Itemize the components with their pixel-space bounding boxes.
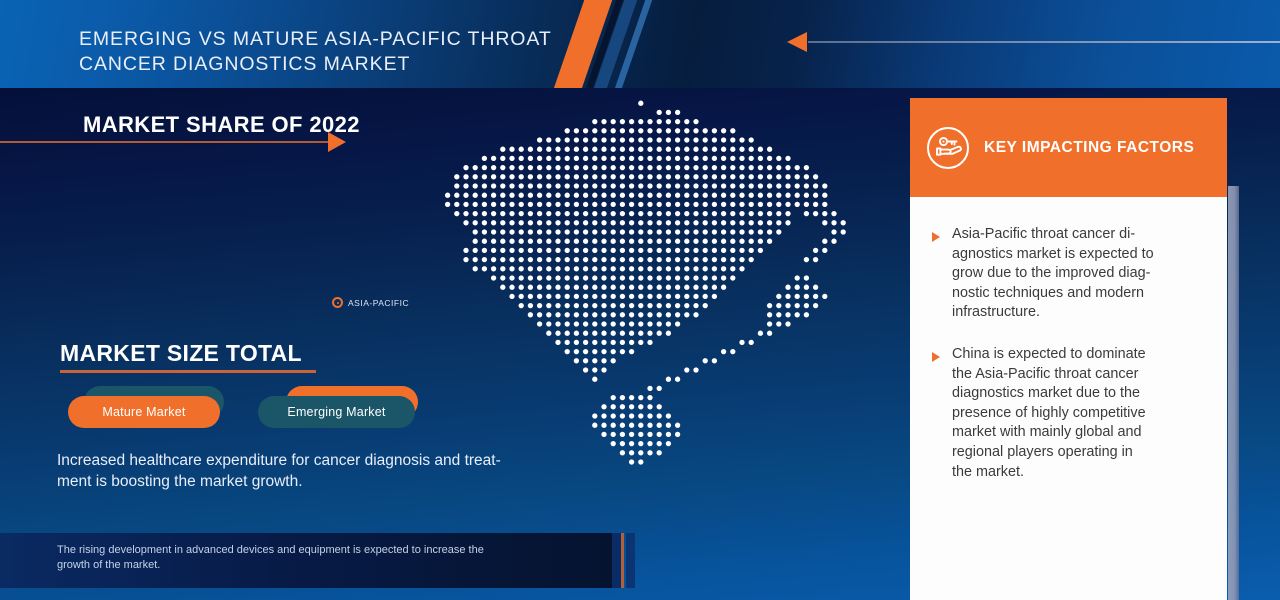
key-factors-body: Asia-Pacific throat cancer di- agnostics… — [910, 197, 1227, 600]
band-accent-bar-orange — [621, 533, 624, 588]
list-item-text: China is expected to dominate the Asia-P… — [952, 345, 1146, 482]
band-accent-bar-1 — [612, 533, 621, 588]
panel-shadow — [1228, 186, 1239, 600]
bottom-note-text: The rising development in advanced devic… — [57, 543, 597, 573]
hand-holding-key-icon — [926, 126, 970, 170]
market-share-label: MARKET SHARE OF 2022 — [83, 112, 360, 138]
dotted-asia-pacific-map — [406, 88, 876, 508]
location-ring-icon — [332, 297, 343, 308]
market-size-underline — [60, 370, 316, 373]
legend-pill-row: Mature Market Emerging Market — [0, 384, 640, 444]
list-item-text: Asia-Pacific throat cancer di- agnostics… — [952, 225, 1154, 323]
legend-pill-mature-market[interactable]: Mature Market — [68, 396, 220, 428]
bullet-triangle-icon — [932, 352, 940, 362]
market-size-description: Increased healthcare expenditure for can… — [57, 450, 597, 492]
infographic-root: EMERGING VS MATURE ASIA-PACIFIC THROAT C… — [0, 0, 1280, 600]
list-item: Asia-Pacific throat cancer di- agnostics… — [932, 225, 1205, 323]
page-title: EMERGING VS MATURE ASIA-PACIFIC THROAT C… — [79, 27, 552, 77]
asia-pacific-marker: ASIA-PACIFIC — [332, 297, 409, 308]
market-size-title: MARKET SIZE TOTAL — [60, 340, 302, 367]
legend-pill-emerging-market[interactable]: Emerging Market — [258, 396, 415, 428]
left-arrow-icon — [787, 32, 807, 52]
bullet-triangle-icon — [932, 232, 940, 242]
market-share-rule — [0, 141, 330, 143]
key-factors-header: KEY IMPACTING FACTORS — [910, 98, 1227, 197]
list-item: China is expected to dominate the Asia-P… — [932, 345, 1205, 482]
key-factors-title: KEY IMPACTING FACTORS — [984, 139, 1194, 157]
header-banner: EMERGING VS MATURE ASIA-PACIFIC THROAT C… — [0, 0, 1280, 88]
band-accent-bar-2 — [626, 533, 635, 588]
header-arrow-line — [808, 41, 1280, 43]
asia-pacific-label: ASIA-PACIFIC — [348, 298, 409, 308]
